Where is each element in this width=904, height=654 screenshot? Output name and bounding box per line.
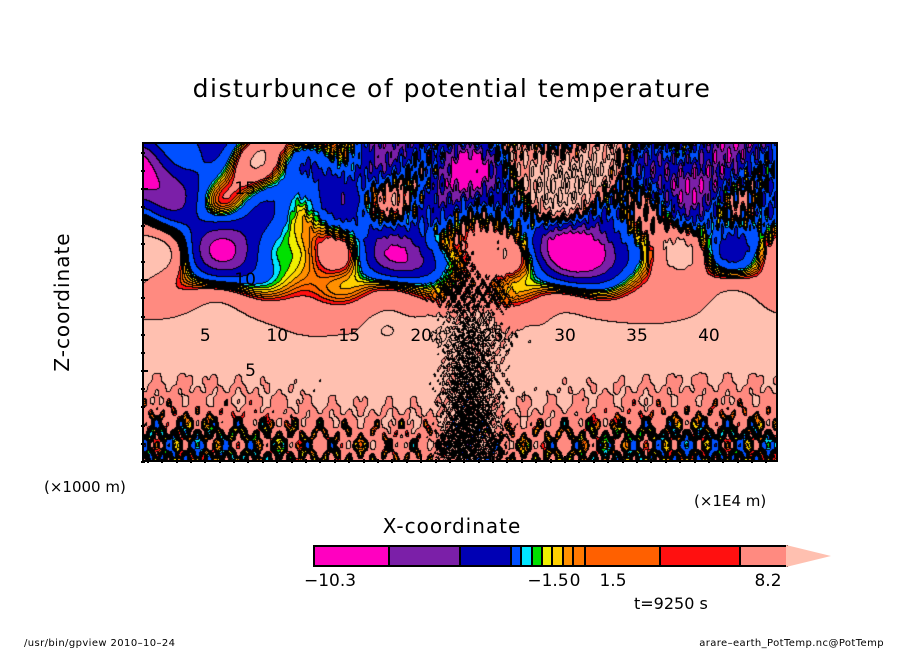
y-tick	[141, 461, 145, 463]
y-tick-label: 10	[234, 270, 256, 290]
y-tick	[141, 261, 145, 263]
y-tick	[141, 206, 145, 208]
x-tick	[420, 456, 422, 463]
footer-command: /usr/bin/gpview 2010–10–24	[24, 638, 175, 649]
x-tick	[478, 459, 480, 463]
x-tick	[521, 459, 523, 463]
x-tick	[377, 459, 379, 463]
x-tick	[305, 459, 307, 463]
x-tick	[737, 459, 739, 463]
colorbar-segment	[741, 547, 786, 565]
x-tick	[449, 459, 451, 463]
x-tick	[161, 459, 163, 463]
colorbar-tick-label: 1.5	[599, 571, 626, 591]
x-tick	[765, 459, 767, 463]
y-tick	[141, 316, 145, 318]
x-tick	[564, 456, 566, 463]
x-tick	[722, 459, 724, 463]
colorbar-tick-label: −10.3	[304, 571, 356, 591]
colorbar-segment	[461, 547, 512, 565]
y-tick	[141, 188, 148, 190]
x-tick	[679, 459, 681, 463]
x-tick-label: 20	[410, 326, 432, 346]
colorbar-tick-label: 0	[570, 571, 581, 591]
x-tick	[147, 459, 149, 463]
x-tick-label: 30	[554, 326, 576, 346]
x-tick	[219, 459, 221, 463]
colorbar-tick-label: 8.2	[754, 571, 781, 591]
y-axis-unit: (×1000 m)	[44, 478, 126, 496]
y-tick	[141, 170, 145, 172]
x-tick	[650, 459, 652, 463]
x-tick-label: 25	[482, 326, 504, 346]
x-tick	[247, 459, 249, 463]
colorbar-segment	[661, 547, 741, 565]
y-tick	[141, 334, 145, 336]
x-tick	[435, 459, 437, 463]
colorbar-segment	[533, 547, 543, 565]
y-tick	[141, 243, 145, 245]
y-tick	[141, 388, 145, 390]
x-tick	[176, 459, 178, 463]
colorbar-segment	[390, 547, 461, 565]
colorbar-segment	[512, 547, 522, 565]
x-tick-label: 40	[698, 326, 720, 346]
colorbar-tick-label: −1.5	[527, 571, 568, 591]
x-tick	[622, 459, 624, 463]
x-tick	[233, 459, 235, 463]
y-tick	[141, 425, 145, 427]
x-tick	[550, 459, 552, 463]
x-tick	[607, 459, 609, 463]
x-axis-label: X-coordinate	[0, 514, 904, 538]
x-tick-label: 10	[266, 326, 288, 346]
y-axis-label: Z-coordinate	[50, 232, 74, 371]
x-tick	[319, 459, 321, 463]
x-tick	[204, 456, 206, 463]
x-tick	[463, 459, 465, 463]
colorbar-segment	[574, 547, 585, 565]
colorbar: −10.3−1.501.58.2	[313, 545, 825, 569]
x-tick	[708, 456, 710, 463]
colorbar-segment	[315, 547, 390, 565]
y-tick	[141, 370, 148, 372]
y-tick	[141, 297, 145, 299]
y-tick	[141, 406, 145, 408]
x-axis-unit: (×1E4 m)	[694, 492, 766, 510]
x-tick	[636, 456, 638, 463]
x-tick-label: 5	[200, 326, 211, 346]
x-tick	[665, 459, 667, 463]
y-tick	[141, 225, 145, 227]
x-tick	[262, 459, 264, 463]
x-tick-label: 35	[626, 326, 648, 346]
y-tick	[141, 279, 148, 281]
x-tick	[751, 459, 753, 463]
x-tick	[348, 456, 350, 463]
y-tick	[141, 152, 145, 154]
footer-source: arare–earth_PotTemp.nc@PotTemp	[699, 638, 884, 649]
x-tick	[506, 459, 508, 463]
colorbar-segment	[522, 547, 532, 565]
x-tick	[291, 459, 293, 463]
y-tick-label: 15	[234, 179, 256, 199]
x-tick	[535, 459, 537, 463]
x-tick	[406, 459, 408, 463]
page-title: disturbunce of potential temperature	[0, 74, 904, 103]
colorbar-segment	[553, 547, 563, 565]
colorbar-extend-arrow	[786, 545, 831, 567]
x-tick-label: 15	[338, 326, 360, 346]
x-tick	[492, 456, 494, 463]
colorbar-segment	[586, 547, 661, 565]
x-tick	[190, 459, 192, 463]
x-tick	[593, 459, 595, 463]
colorbar-segment	[543, 547, 553, 565]
x-tick	[391, 459, 393, 463]
x-tick	[276, 456, 278, 463]
time-annotation: t=9250 s	[634, 594, 708, 613]
colorbar-segments	[313, 545, 788, 567]
y-tick	[141, 352, 145, 354]
colorbar-segment	[564, 547, 574, 565]
x-tick	[578, 459, 580, 463]
x-tick	[334, 459, 336, 463]
x-tick	[694, 459, 696, 463]
x-tick	[363, 459, 365, 463]
y-tick-label: 5	[245, 361, 256, 381]
y-tick	[141, 443, 145, 445]
